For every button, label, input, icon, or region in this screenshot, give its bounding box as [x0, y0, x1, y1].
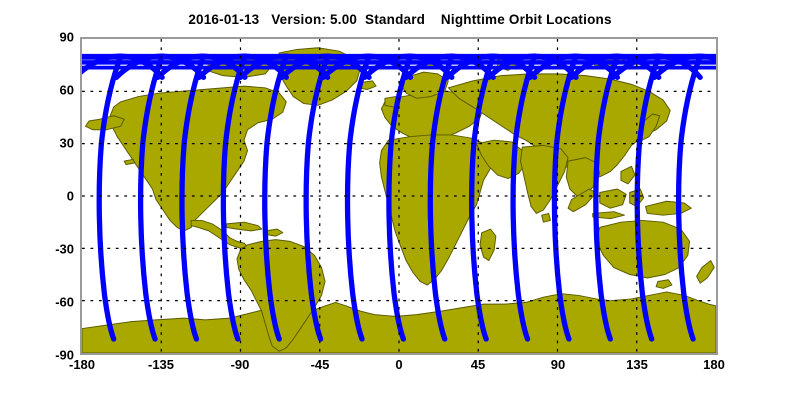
world-map-svg	[82, 39, 716, 353]
xtick-label-m135: -135	[126, 357, 196, 372]
ytick-label-m60: -60	[14, 295, 74, 310]
page-title: 2016-01-13 Version: 5.00 Standard Nightt…	[0, 12, 800, 27]
xtick-label-0: 0	[364, 357, 434, 372]
xtick-label-m180: -180	[47, 357, 117, 372]
xtick-label-180: 180	[679, 357, 749, 372]
ytick-label-30: 30	[14, 136, 74, 151]
ytick-label-0: 0	[14, 189, 74, 204]
xtick-label-m45: -45	[285, 357, 355, 372]
xtick-label-45: 45	[443, 357, 513, 372]
ytick-label-60: 60	[14, 83, 74, 98]
ytick-label-m30: -30	[14, 242, 74, 257]
landmass-sri-lanka	[542, 213, 551, 222]
xtick-label-90: 90	[523, 357, 593, 372]
orbit-map-figure: 2016-01-13 Version: 5.00 Standard Nightt…	[0, 0, 800, 400]
xtick-label-m90: -90	[205, 357, 275, 372]
ytick-label-90: 90	[14, 30, 74, 45]
xtick-label-135: 135	[602, 357, 672, 372]
landmass-borneo	[600, 189, 626, 208]
map-plot-area	[80, 37, 718, 355]
